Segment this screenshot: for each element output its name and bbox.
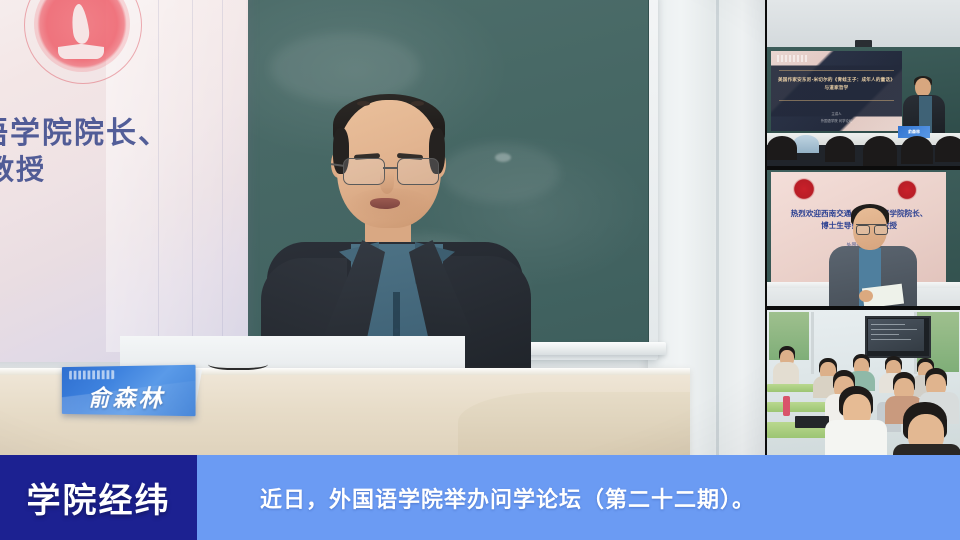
banner-body: 近日，外国语学院举办问学论坛（第二十二期）。 [197, 455, 960, 540]
t3-water-bottle [783, 396, 790, 416]
speaker-mouth [370, 198, 400, 209]
screen-text-line1: 语学院院长、 [0, 108, 170, 152]
t1-slide-title: 美国作家安东尼·米切尔的《青蛙王子：成年人的童话》与道家哲学 [777, 77, 896, 93]
t2-emblem-right-icon [897, 180, 917, 200]
screen-text-line2: 教授 [0, 148, 46, 188]
lower-third-banner: 学院经纬 近日，外国语学院举办问学论坛（第二十二期）。 [0, 455, 960, 540]
thumbnail-audience[interactable] [767, 310, 960, 455]
video-frame: 语学院院长、 教授 [0, 0, 960, 540]
t2-emblem-left-icon [793, 178, 815, 200]
speaker-nameplate: 俞森林 [62, 365, 196, 416]
t1-slide-rule-bottom [779, 100, 894, 101]
speaker-eye-right [411, 101, 424, 106]
t1-nameplate-text: 俞森林 [898, 129, 930, 135]
t3-laptop [795, 416, 829, 428]
t1-slide-subtitle-1: 主讲人 [777, 112, 896, 117]
t1-slide-rule-top [779, 70, 894, 71]
banner-category-label: 学院经纬 [27, 473, 171, 522]
t2-eyeglasses-icon [856, 224, 886, 234]
main-photo: 语学院院长、 教授 [0, 0, 765, 455]
thumbnail-column: 美国作家安东尼·米切尔的《青蛙王子：成年人的童话》与道家哲学 主讲人 外国语学院… [765, 0, 960, 455]
desk-cable [208, 356, 268, 370]
speaker-nose [380, 172, 394, 194]
emblem-book-icon [58, 44, 104, 59]
banner-headline-text: 近日，外国语学院举办问学论坛（第二十二期）。 [260, 482, 755, 514]
t1-slide-subtitle-2: 外国语学院 问学论坛 [777, 119, 896, 124]
t2-hand [859, 290, 873, 302]
thumbnail-lecture-slide[interactable]: 美国作家安东尼·米切尔的《青蛙王子：成年人的童话》与道家哲学 主讲人 外国语学院… [767, 0, 960, 166]
speaker-eye-left [357, 101, 370, 106]
wall-column-seam [716, 0, 719, 455]
thumbnail-welcome-banner[interactable]: 热烈欢迎西南交通大学外国语学院院长、 博士生导师俞森林教授 外国语学院 2024… [767, 170, 960, 306]
t3-desk-row3 [767, 384, 819, 392]
nameplate-logo-icon [69, 370, 114, 379]
nameplate-name-text: 俞森林 [62, 378, 196, 414]
t1-slide-logo-icon [777, 55, 807, 62]
podium-front [458, 392, 690, 455]
banner-category-tag: 学院经纬 [0, 455, 197, 540]
